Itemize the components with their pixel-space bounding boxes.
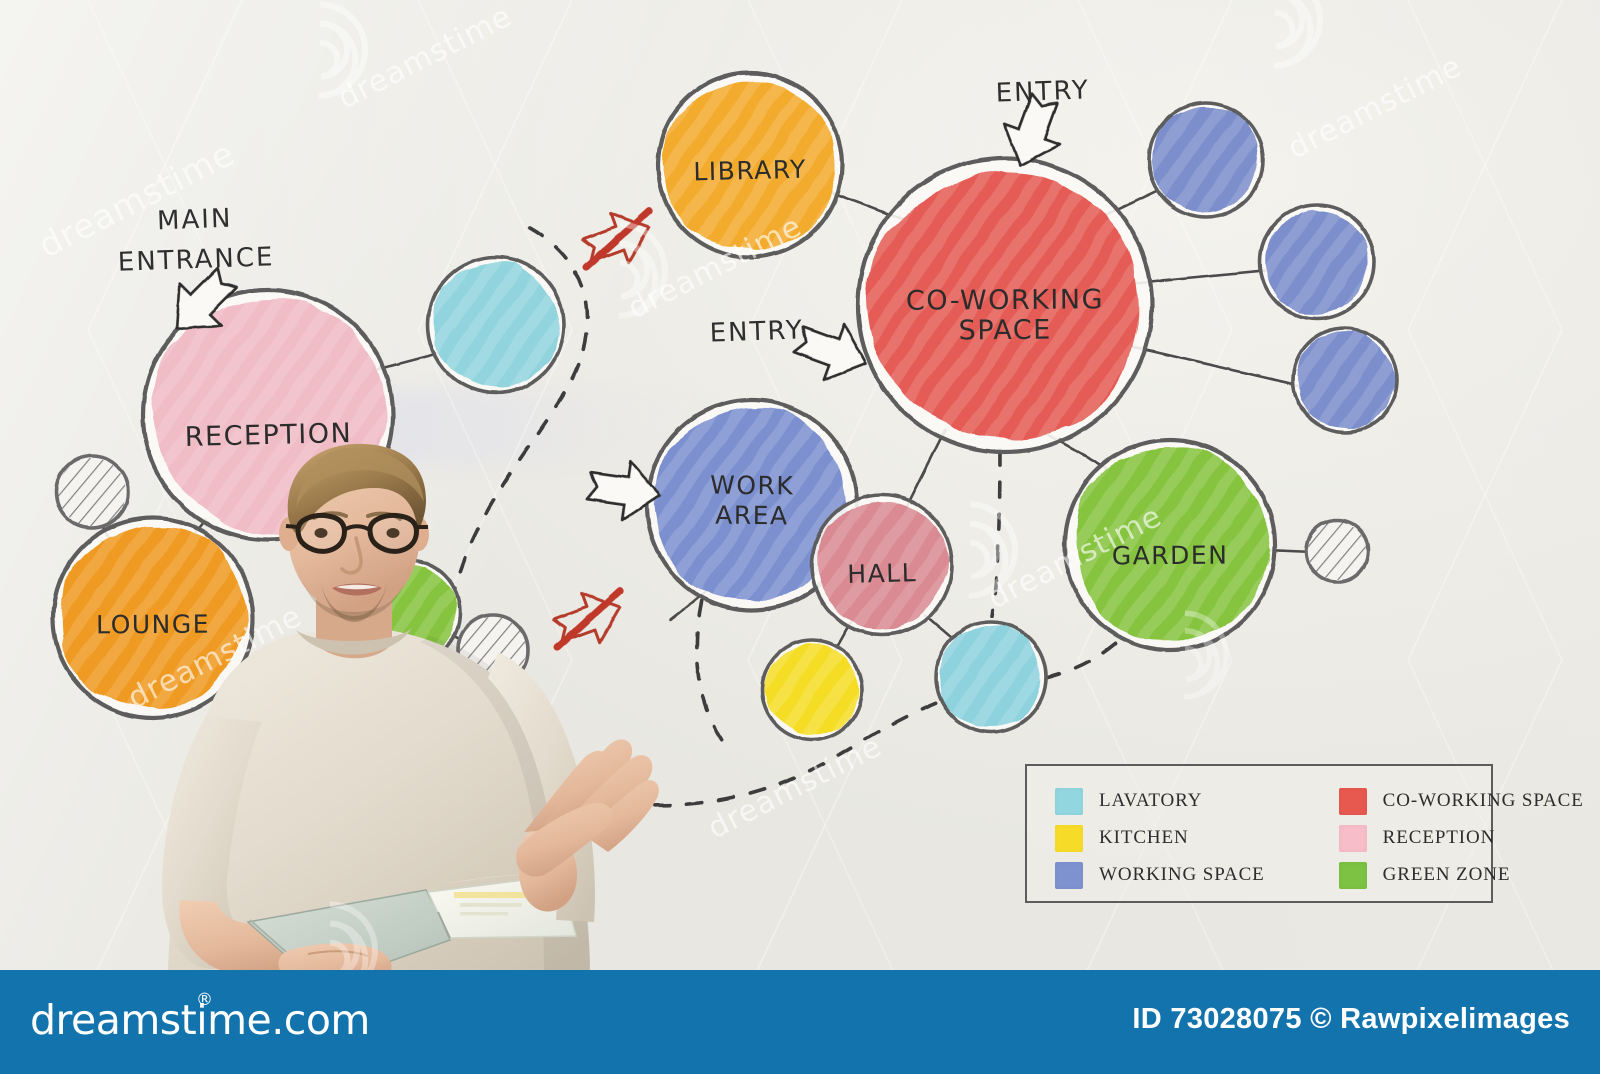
registered-icon: ® [196,990,213,1010]
marker-label-main-entrance: ENTRANCE [117,242,275,277]
legend-swatch [1339,862,1367,889]
node-garden: GARDEN [1065,440,1275,650]
node-label-coworking: SPACE [959,315,1052,347]
legend-label: CO-WORKING SPACE [1383,790,1584,812]
node-label-coworking: CO-WORKING [906,284,1104,316]
legend-item: RECEPTION [1339,825,1584,851]
screenshot-root: RECEPTIONLOUNGELIBRARYCO-WORKINGSPACEWOR… [0,0,1600,1074]
marker-label-entry-left: ENTRY [709,315,804,348]
node-hatch-mid1 [458,615,528,685]
legend-column-1: LAVATORYKITCHENWORKING SPACE [1055,788,1265,888]
connector-coworking-ne3 [1125,345,1310,388]
marker-label-main-entrance: MAIN [157,204,233,237]
node-label-reception: RECEPTION [184,418,352,453]
node-label-workarea: AREA [715,501,789,531]
node-hatch-mid2 [456,690,530,764]
node-lavatory-nw [428,257,564,393]
dreamstime-logo: dreamstime.com ® [30,996,370,1044]
node-ws-ne3 [1293,328,1397,432]
legend-item: KITCHEN [1055,825,1265,851]
legend-label: KITCHEN [1099,827,1189,849]
image-credit: ID 73028075 © Rawpixelimages [1132,1003,1570,1036]
marker-label-entry-top: ENTRY [995,75,1090,108]
node-lavatory-s [936,622,1046,732]
legend-swatch [1339,825,1367,852]
legend-item: LAVATORY [1055,788,1265,814]
node-label-library: LIBRARY [693,155,807,187]
node-label-workarea: WORK [710,471,794,501]
node-ws-ne1 [1149,103,1263,217]
node-hall: HALL [812,495,952,635]
forbidden-arrow-icon-no-entry-1 [572,201,663,277]
node-coworking: CO-WORKINGSPACE [858,158,1152,452]
legend-label: LAVATORY [1099,790,1202,812]
node-kitchen [762,640,862,740]
legend-label: RECEPTION [1383,827,1496,849]
forbidden-arrows [543,201,663,657]
node-hatch-e [1306,520,1368,582]
legend-swatch [1055,825,1083,852]
legend-item: WORKING SPACE [1055,862,1265,888]
dashed-path-coworking-down [992,450,1000,616]
legend-swatch [1055,788,1083,815]
node-green-mid [356,560,460,664]
legend-swatch [1055,862,1083,889]
legend-column-2: CO-WORKING SPACERECEPTIONGREEN ZONE [1339,788,1584,888]
footer-bar: dreamstime.com ® ID 73028075 © Rawpixeli… [0,970,1600,1074]
legend-label: WORKING SPACE [1099,864,1265,886]
legend-box: LAVATORYKITCHENWORKING SPACECO-WORKING S… [1025,764,1493,903]
marker-entry-left: ENTRY [709,312,875,392]
legend-swatch [1339,788,1367,815]
diagram-nodes: RECEPTIONLOUNGELIBRARYCO-WORKINGSPACEWOR… [53,73,1397,740]
forbidden-arrow-icon-no-entry-2 [543,581,634,657]
node-ws-ne2 [1260,205,1374,319]
node-lounge: LOUNGE [53,518,253,718]
legend-item: GREEN ZONE [1339,862,1584,888]
legend-label: GREEN ZONE [1383,864,1511,886]
node-label-hall: HALL [847,558,917,589]
legend-item: CO-WORKING SPACE [1339,788,1584,814]
node-library: LIBRARY [658,73,842,257]
node-label-lounge: LOUNGE [96,610,210,640]
node-hatch-nw [56,456,128,528]
node-label-garden: GARDEN [1112,541,1229,571]
